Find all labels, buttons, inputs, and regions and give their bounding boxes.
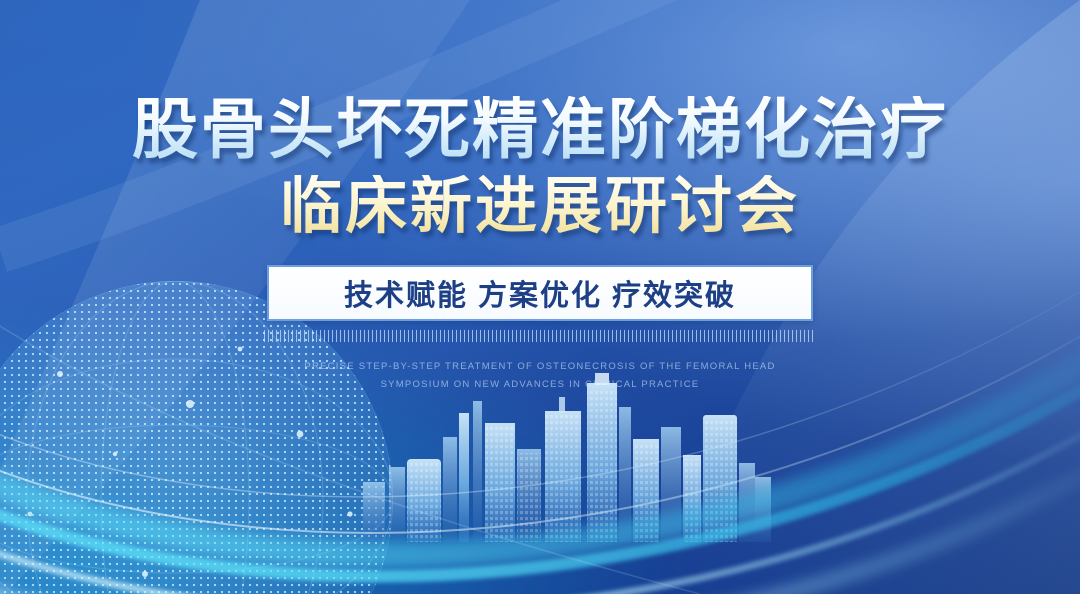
banner-content: 股骨头坏死精准阶梯化治疗 临床新进展研讨会 技术赋能 方案优化 疗效突破 PRE…	[0, 0, 1080, 594]
english-subtitle-line-2: SYMPOSIUM ON NEW ADVANCES IN CLINICAL PR…	[304, 376, 775, 394]
english-subtitle-line-1: PRECISE STEP-BY-STEP TREATMENT OF OSTEON…	[304, 358, 775, 376]
banner-title-line-2: 临床新进展研讨会	[280, 175, 800, 238]
dashed-tick-divider	[264, 330, 816, 342]
banner-title-line-1: 股骨头坏死精准阶梯化治疗	[132, 96, 948, 163]
english-subtitle-block: PRECISE STEP-BY-STEP TREATMENT OF OSTEON…	[304, 358, 775, 394]
subtitle-box: 技术赋能 方案优化 疗效突破	[267, 265, 813, 321]
conference-banner: 股骨头坏死精准阶梯化治疗 临床新进展研讨会 技术赋能 方案优化 疗效突破 PRE…	[0, 0, 1080, 594]
subtitle-text: 技术赋能 方案优化 疗效突破	[344, 272, 736, 314]
